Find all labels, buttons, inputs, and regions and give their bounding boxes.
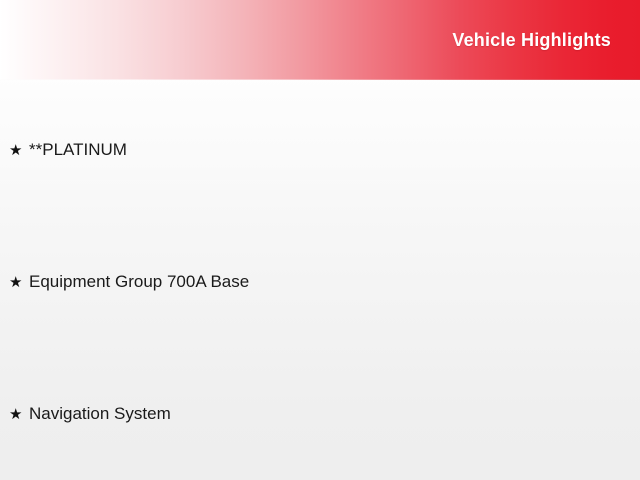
star-bullet-icon: ★ bbox=[9, 407, 29, 422]
list-item-label: Navigation System bbox=[29, 403, 630, 425]
vehicle-highlights-list: ★ **PLATINUM ★ Equipment Group 700A Base… bbox=[0, 79, 640, 480]
list-item: ★ Equipment Group 700A Base bbox=[9, 270, 630, 294]
page-title: Vehicle Highlights bbox=[452, 30, 611, 51]
list-item: ★ **PLATINUM bbox=[9, 138, 630, 162]
list-item-label: Equipment Group 700A Base bbox=[29, 271, 630, 293]
vehicle-highlights-panel: Vehicle Highlights ★ **PLATINUM ★ Equipm… bbox=[0, 0, 640, 480]
list-item: ★ Navigation System bbox=[9, 402, 630, 426]
header-banner: Vehicle Highlights bbox=[0, 0, 640, 79]
star-bullet-icon: ★ bbox=[9, 275, 29, 290]
star-bullet-icon: ★ bbox=[9, 143, 29, 158]
list-item-label: **PLATINUM bbox=[29, 139, 630, 161]
